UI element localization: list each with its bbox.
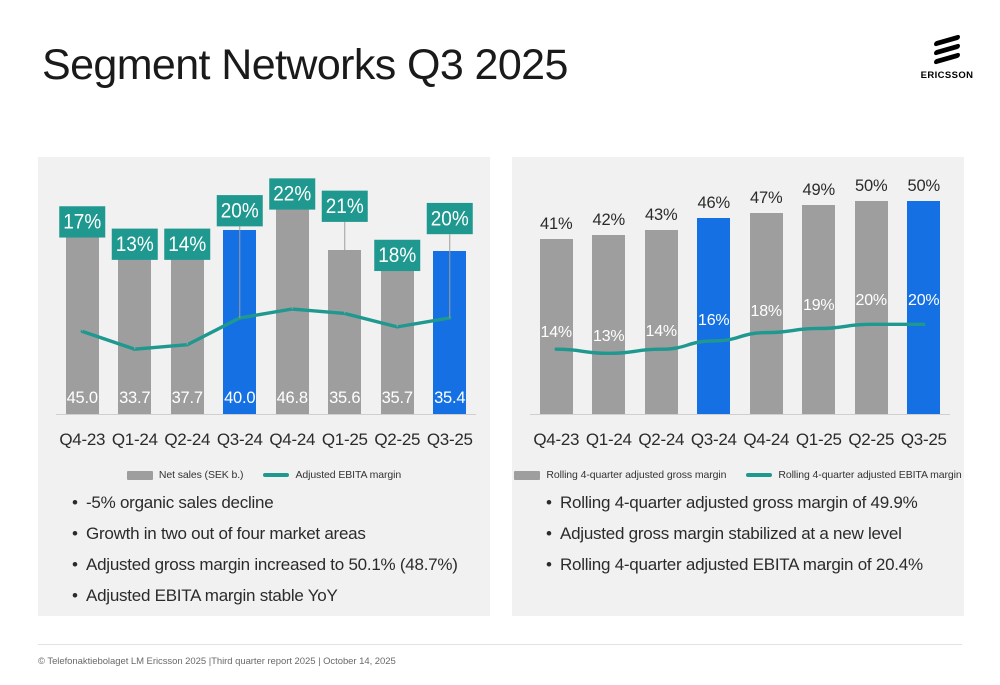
x-axis-tick-label: Q1-25	[793, 430, 846, 450]
x-axis-tick-label: Q4-24	[740, 430, 793, 450]
callout-percent-label: 18%	[378, 244, 416, 267]
left-bullet-list: •-5% organic sales decline•Growth in two…	[72, 492, 474, 616]
margin-line	[82, 309, 450, 349]
bullet-dot-icon: •	[72, 585, 86, 607]
net-sales-ebita-chart: 45.033.737.740.046.835.635.735.4 17%13%1…	[38, 157, 490, 462]
right-bullet-list: •Rolling 4-quarter adjusted gross margin…	[546, 492, 948, 585]
bullet-text: Rolling 4-quarter adjusted gross margin …	[560, 492, 917, 514]
bullet-text: Adjusted gross margin increased to 50.1%…	[86, 554, 458, 576]
bullet-text: Adjusted gross margin stabilized at a ne…	[560, 523, 902, 545]
x-axis-tick-label: Q1-25	[319, 430, 372, 450]
rolling-margins-chart: 41%14%42%13%43%14%46%16%47%18%49%19%50%2…	[512, 157, 964, 462]
logo-wordmark: ERICSSON	[921, 70, 974, 81]
x-axis-tick-label: Q4-23	[530, 430, 583, 450]
callout-percent-label: 17%	[63, 211, 101, 234]
bullet-text: Adjusted EBITA margin stable YoY	[86, 585, 338, 607]
x-axis-tick-label: Q2-25	[371, 430, 424, 450]
callout-percent-label: 20%	[221, 200, 259, 223]
left-panel: 45.033.737.740.046.835.635.735.4 17%13%1…	[38, 157, 490, 616]
ericsson-logo-icon: ERICSSON	[916, 36, 978, 88]
bullet-text: Rolling 4-quarter adjusted EBITA margin …	[560, 554, 923, 576]
x-axis-tick-label: Q3-25	[424, 430, 477, 450]
x-axis-tick-label: Q3-24	[214, 430, 267, 450]
margin-callout: 21%	[322, 191, 368, 314]
footer-text: © Telefonaktiebolaget LM Ericsson 2025 |…	[38, 656, 396, 667]
callout-percent-label: 22%	[273, 183, 311, 206]
right-plot-area: 41%14%42%13%43%14%46%16%47%18%49%19%50%2…	[530, 175, 950, 462]
callout-percent-label: 14%	[168, 233, 206, 256]
right-line-overlay	[530, 175, 950, 462]
right-legend: Rolling 4-quarter adjusted gross margin …	[512, 464, 964, 486]
bullet-dot-icon: •	[546, 492, 560, 514]
legend-label-rolling-gross-margin: Rolling 4-quarter adjusted gross margin	[546, 469, 726, 481]
list-item: •Rolling 4-quarter adjusted EBITA margin…	[546, 554, 948, 576]
margin-callout: 14%	[164, 229, 210, 345]
legend-label-ebita-margin: Adjusted EBITA margin	[295, 469, 401, 481]
legend-line-swatch-icon	[746, 473, 772, 476]
left-legend: Net sales (SEK b.) Adjusted EBITA margin	[38, 464, 490, 486]
bullet-dot-icon: •	[72, 523, 86, 545]
bullet-dot-icon: •	[72, 492, 86, 514]
bullet-dot-icon: •	[546, 554, 560, 576]
legend-item-rolling-gross-margin: Rolling 4-quarter adjusted gross margin	[514, 469, 726, 481]
list-item: •-5% organic sales decline	[72, 492, 474, 514]
bullet-dot-icon: •	[72, 554, 86, 576]
x-axis-tick-label: Q4-24	[266, 430, 319, 450]
left-line-overlay: 17%13%14%20%22%21%18%20%	[56, 175, 476, 462]
margin-callout: 22%	[269, 178, 315, 309]
margin-line	[556, 324, 924, 353]
ericsson-logo-mark-icon	[934, 36, 960, 66]
list-item: •Adjusted gross margin increased to 50.1…	[72, 554, 474, 576]
legend-item-net-sales: Net sales (SEK b.)	[127, 469, 244, 481]
legend-item-rolling-ebita-margin: Rolling 4-quarter adjusted EBITA margin	[746, 469, 961, 481]
right-panel: 41%14%42%13%43%14%46%16%47%18%49%19%50%2…	[512, 157, 964, 616]
bullet-dot-icon: •	[546, 523, 560, 545]
x-axis-tick-label: Q3-25	[898, 430, 951, 450]
list-item: •Adjusted gross margin stabilized at a n…	[546, 523, 948, 545]
legend-label-rolling-ebita-margin: Rolling 4-quarter adjusted EBITA margin	[778, 469, 961, 481]
legend-bar-swatch-icon	[514, 471, 540, 480]
legend-bar-swatch-icon	[127, 471, 153, 480]
legend-label-net-sales: Net sales (SEK b.)	[159, 469, 244, 481]
bullet-text: Growth in two out of four market areas	[86, 523, 366, 545]
left-x-axis-labels: Q4-23Q1-24Q2-24Q3-24Q4-24Q1-25Q2-25Q3-25	[56, 430, 476, 450]
footer-divider	[38, 644, 962, 645]
x-axis-tick-label: Q1-24	[109, 430, 162, 450]
x-axis-tick-label: Q2-25	[845, 430, 898, 450]
left-plot-area: 45.033.737.740.046.835.635.735.4 17%13%1…	[56, 175, 476, 462]
legend-line-swatch-icon	[263, 473, 289, 476]
x-axis-tick-label: Q1-24	[583, 430, 636, 450]
legend-item-ebita-margin: Adjusted EBITA margin	[263, 469, 401, 481]
margin-callout: 18%	[374, 240, 420, 327]
list-item: •Rolling 4-quarter adjusted gross margin…	[546, 492, 948, 514]
margin-callout: 20%	[217, 195, 263, 318]
margin-callout: 17%	[59, 206, 105, 331]
right-x-axis-labels: Q4-23Q1-24Q2-24Q3-24Q4-24Q1-25Q2-25Q3-25	[530, 430, 950, 450]
list-item: •Adjusted EBITA margin stable YoY	[72, 585, 474, 607]
callout-percent-label: 20%	[431, 207, 469, 230]
x-axis-tick-label: Q2-24	[635, 430, 688, 450]
slide-root: Segment Networks Q3 2025 ERICSSON 45.033…	[0, 0, 1000, 685]
bullet-text: -5% organic sales decline	[86, 492, 273, 514]
page-title: Segment Networks Q3 2025	[42, 42, 568, 89]
margin-callout: 20%	[427, 203, 473, 318]
x-axis-tick-label: Q4-23	[56, 430, 109, 450]
list-item: •Growth in two out of four market areas	[72, 523, 474, 545]
x-axis-tick-label: Q3-24	[688, 430, 741, 450]
x-axis-tick-label: Q2-24	[161, 430, 214, 450]
callout-percent-label: 21%	[326, 195, 364, 218]
callout-percent-label: 13%	[116, 233, 154, 256]
margin-callout: 13%	[112, 229, 158, 350]
